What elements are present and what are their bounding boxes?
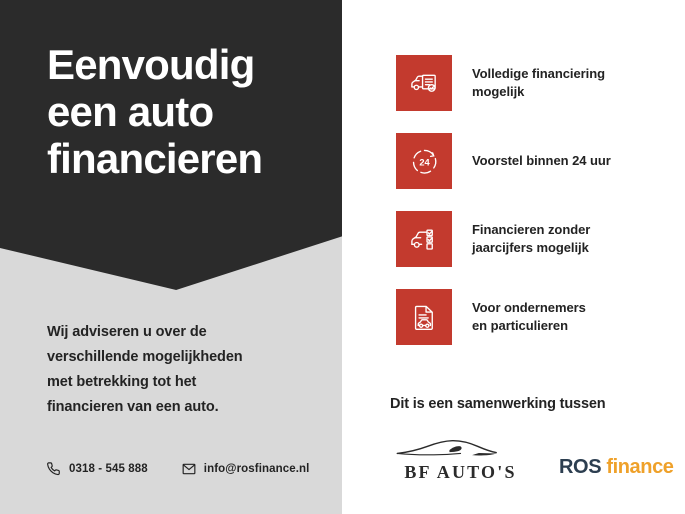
feature-item: 24 Voorstel binnen 24 uur [396,133,671,189]
page-title: Eenvoudig een auto financieren [47,41,327,182]
feature-label: Volledige financiering mogelijk [472,65,605,101]
svg-text:24: 24 [419,157,430,167]
car-document-check-icon [409,68,440,99]
feature-icon-tile [396,55,452,111]
document-car-icon [409,302,440,333]
phone-icon [47,462,61,476]
partners-section: Dit is een samenwerking tussen BF AUTO'S [390,396,680,483]
bf-autos-logo[interactable]: BF AUTO'S [390,433,531,483]
envelope-icon [182,462,196,476]
clock-24-hours-icon: 24 [409,146,440,177]
lead-paragraph: Wij adviseren u over de verschillende mo… [47,320,309,420]
feature-item: Financieren zonder jaarcijfers mogelijk [396,211,671,267]
contact-phone[interactable]: 0318 - 545 888 [47,462,148,476]
feature-icon-tile: 24 [396,133,452,189]
partners-title: Dit is een samenwerking tussen [390,396,680,412]
bf-autos-wordmark: BF AUTO'S [404,462,516,483]
feature-icon-tile [396,211,452,267]
contact-email[interactable]: info@rosfinance.nl [182,462,310,476]
sports-car-silhouette-icon [392,433,530,460]
finance-wordmark: finance [606,456,673,478]
ros-wordmark: ROS [559,456,601,478]
contact-row: 0318 - 545 888 info@rosfinance.nl [47,462,309,476]
contact-phone-text: 0318 - 545 888 [69,463,148,475]
car-checklist-icon [409,224,440,255]
feature-label: Financieren zonder jaarcijfers mogelijk [472,221,590,257]
feature-label: Voorstel binnen 24 uur [472,152,611,170]
feature-list: Volledige financiering mogelijk 24 [396,55,671,367]
feature-label: Voor ondernemers en particulieren [472,299,586,335]
left-panel: Eenvoudig een auto financieren Wij advis… [0,0,342,514]
right-panel: Volledige financiering mogelijk 24 [342,0,685,514]
ros-finance-logo[interactable]: ROS finance [559,456,674,483]
contact-email-text: info@rosfinance.nl [204,463,310,475]
feature-item: Voor ondernemers en particulieren [396,289,671,345]
partner-logo-row: BF AUTO'S ROS finance [390,433,680,483]
promo-poster: Eenvoudig een auto financieren Wij advis… [0,0,685,514]
feature-icon-tile [396,289,452,345]
feature-item: Volledige financiering mogelijk [396,55,671,111]
